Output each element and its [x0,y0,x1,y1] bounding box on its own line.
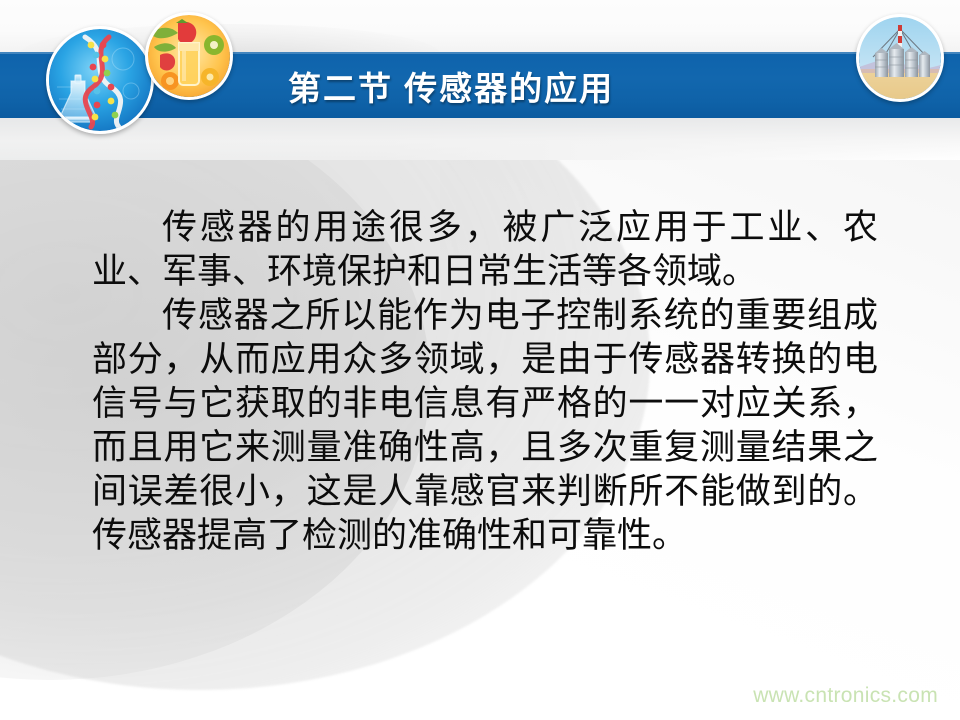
agriculture-silo-badge [856,14,944,102]
juice-glass-icon [148,15,230,97]
dna-biotech-badge-image [49,29,151,131]
food-beverage-badge [145,12,233,100]
slide-header: 第二节 传感器的应用 [0,0,960,160]
presentation-slide: 第二节 传感器的应用 [0,0,960,720]
agriculture-silo-badge-image [859,17,941,99]
slide-body-text: 传感器的用途很多，被广泛应用于工业、农业、军事、环境保护和日常生活等各领域。 传… [92,206,878,558]
grain-silo-icon [859,17,941,99]
body-paragraph-1: 传感器的用途很多，被广泛应用于工业、农业、军事、环境保护和日常生活等各领域。 [92,206,878,294]
dna-icon [49,29,151,131]
site-watermark: www.cntronics.com [753,684,938,708]
dna-biotech-badge [46,26,154,134]
header-underline-band-fade [0,118,960,160]
page-title: 第二节 传感器的应用 [288,62,614,110]
food-beverage-badge-image [148,15,230,97]
body-paragraph-2: 传感器之所以能作为电子控制系统的重要组成部分，从而应用众多领域，是由于传感器转换… [92,294,878,558]
